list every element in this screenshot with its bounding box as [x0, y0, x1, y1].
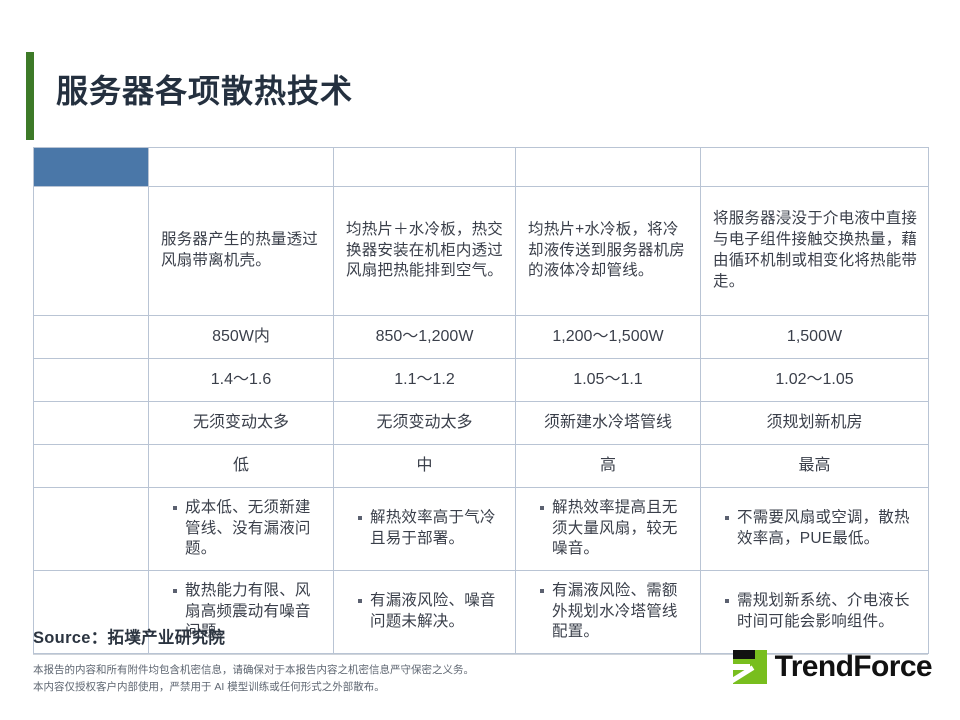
title-accent-bar [26, 52, 34, 140]
page-title: 服务器各项散热技术 [56, 66, 353, 112]
row-label-principle: 散热原理 [34, 187, 149, 316]
cell-pue-immersion: 1.02～1.05 [701, 359, 929, 402]
column-header-air-cooling: 气冷 [149, 148, 334, 187]
cell-principle-air: 服务器产生的热量透过风扇带离机壳。 [149, 187, 334, 316]
cell-efficiency-w2w: 1,200～1,500W [516, 316, 701, 359]
cell-compatibility-w2a: 无须变动太多 [334, 402, 516, 445]
cell-pue-w2w: 1.05～1.1 [516, 359, 701, 402]
cell-compatibility-immersion: 须规划新机房 [701, 402, 929, 445]
cell-cost-w2w: 高 [516, 445, 701, 488]
column-header-liquid-water-to-water: 液冷(水对水) [516, 148, 701, 187]
cell-pros-w2a: 解热效率高于气冷且易于部署。 [334, 488, 516, 571]
table-header: 气冷 液冷(水对气) 液冷(水对水) 浸没式液冷 [34, 148, 929, 187]
cell-principle-w2w: 均热片+水冷板，将冷却液传送到服务器机房的液体冷却管线。 [516, 187, 701, 316]
cell-pros-w2w: 解热效率提高且无须大量风扇，较无噪音。 [516, 488, 701, 571]
cell-pros-immersion: 不需要风扇或空调，散热效率高，PUE最低。 [701, 488, 929, 571]
trendforce-mark-icon [733, 650, 767, 684]
table-header-row: 气冷 液冷(水对气) 液冷(水对水) 浸没式液冷 [34, 148, 929, 187]
row-label-pros: 优点 [34, 488, 149, 571]
cell-principle-immersion: 将服务器浸没于介电液中直接与电子组件接触交换热量，藉由循环机制或相变化将热能带走… [701, 187, 929, 316]
bullet-item: 解热效率提高且无须大量风扇，较无噪音。 [540, 498, 690, 560]
cell-pros-air: 成本低、无须新建管线、没有漏液问题。 [149, 488, 334, 571]
comparison-table-wrapper: 气冷 液冷(水对气) 液冷(水对水) 浸没式液冷 散热原理 服务器产生的热量透过… [33, 147, 928, 654]
table-body: 散热原理 服务器产生的热量透过风扇带离机壳。 均热片＋水冷板，热交换器安装在机柜… [34, 187, 929, 654]
column-header-immersion: 浸没式液冷 [701, 148, 929, 187]
table-row: 成本高低 低 中 高 最高 [34, 445, 929, 488]
disclaimer: 本报告的内容和所有附件均包含机密信息，请确保对于本报告内容之机密信息严守保密之义… [33, 662, 593, 696]
bullet-item: 解热效率高于气冷且易于部署。 [358, 508, 505, 550]
cell-efficiency-immersion: 1,500W [701, 316, 929, 359]
row-label-efficiency: 解热效率 [34, 316, 149, 359]
table-row: 兼容程度 无须变动太多 无须变动太多 须新建水冷塔管线 须规划新机房 [34, 402, 929, 445]
slide: TrendForce 服务器各项散热技术 气冷 液冷(水对气) 液冷(水对水) … [0, 0, 960, 720]
cell-efficiency-air: 850W内 [149, 316, 334, 359]
bullet-item: 成本低、无须新建管线、没有漏液问题。 [173, 498, 323, 560]
table-row: 解热效率 850W内 850～1,200W 1,200～1,500W 1,500… [34, 316, 929, 359]
disclaimer-line-1: 本报告的内容和所有附件均包含机密信息，请确保对于本报告内容之机密信息严守保密之义… [33, 662, 593, 679]
bullet-item: 不需要风扇或空调，散热效率高，PUE最低。 [725, 508, 918, 550]
bullet-list: 解热效率提高且无须大量风扇，较无噪音。 [526, 498, 690, 560]
cell-pue-air: 1.4～1.6 [149, 359, 334, 402]
disclaimer-line-2: 本内容仅授权客户内部使用，严禁用于 AI 模型训练或任何形式之外部散布。 [33, 679, 593, 696]
cell-cost-air: 低 [149, 445, 334, 488]
trendforce-logo-text: TrendForce [775, 650, 932, 684]
cell-efficiency-w2a: 850～1,200W [334, 316, 516, 359]
column-header-liquid-water-to-air: 液冷(水对气) [334, 148, 516, 187]
cell-compatibility-w2w: 须新建水冷塔管线 [516, 402, 701, 445]
cell-cost-immersion: 最高 [701, 445, 929, 488]
bullet-list: 不需要风扇或空调，散热效率高，PUE最低。 [711, 508, 918, 550]
table-row: 优点 成本低、无须新建管线、没有漏液问题。 解热效率高于气冷且易于部署。 解热效… [34, 488, 929, 571]
table-row: 散热原理 服务器产生的热量透过风扇带离机壳。 均热片＋水冷板，热交换器安装在机柜… [34, 187, 929, 316]
bullet-list: 成本低、无须新建管线、没有漏液问题。 [159, 498, 323, 560]
bullet-list: 解热效率高于气冷且易于部署。 [344, 508, 505, 550]
row-label-compatibility: 兼容程度 [34, 402, 149, 445]
cell-principle-w2a: 均热片＋水冷板，热交换器安装在机柜内透过风扇把热能排到空气。 [334, 187, 516, 316]
cell-cost-w2a: 中 [334, 445, 516, 488]
source-label: Source：拓墣产业研究院 [33, 624, 928, 648]
table-corner-cell [34, 148, 149, 187]
cell-compatibility-air: 无须变动太多 [149, 402, 334, 445]
cell-pue-w2a: 1.1～1.2 [334, 359, 516, 402]
table-row: PUE值 1.4～1.6 1.1～1.2 1.05～1.1 1.02～1.05 [34, 359, 929, 402]
comparison-table: 气冷 液冷(水对气) 液冷(水对水) 浸没式液冷 散热原理 服务器产生的热量透过… [33, 147, 929, 654]
trendforce-logo: TrendForce [733, 650, 932, 684]
row-label-cost: 成本高低 [34, 445, 149, 488]
row-label-pue: PUE值 [34, 359, 149, 402]
